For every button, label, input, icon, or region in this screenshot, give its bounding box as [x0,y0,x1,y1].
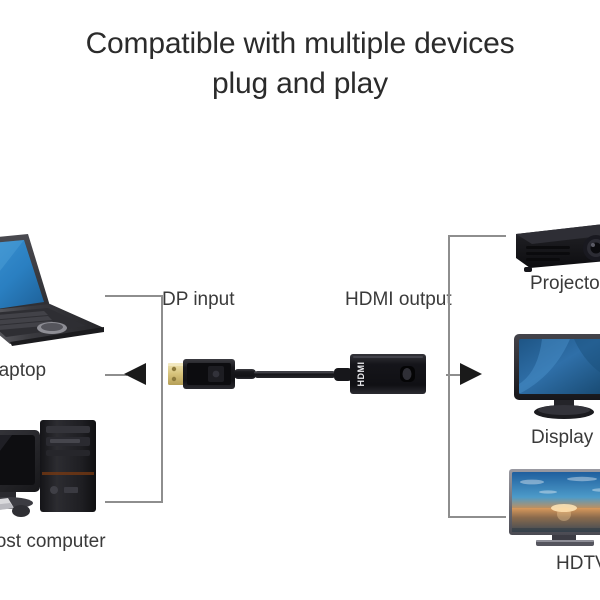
adapter-port-marking: HDMI [356,362,366,387]
label-hdmi-output: HDMI output [345,289,452,311]
title-line-2: plug and play [0,64,600,104]
title-line-1: Compatible with multiple devices [0,24,600,64]
label-laptop: Laptop [0,360,46,382]
label-host-computer: Host computer [0,531,106,553]
label-dp-input: DP input [162,289,235,311]
hdtv-icon [508,468,600,550]
monitor-icon [512,332,600,424]
infographic-canvas: Compatible with multiple devices plug an… [0,0,600,600]
label-hdtv: HDTV [556,553,600,575]
input-arrow-icon [124,363,146,385]
page-title: Compatible with multiple devices plug an… [0,24,600,104]
input-bracket [105,295,163,503]
laptop-icon [0,232,106,352]
label-display: Display [531,427,593,449]
output-arrow-icon [460,363,482,385]
projector-icon [512,218,600,276]
label-projector: Projector [530,273,600,295]
dp-to-hdmi-adapter: HDMI [168,352,428,396]
desktop-tower-icon [0,412,108,530]
